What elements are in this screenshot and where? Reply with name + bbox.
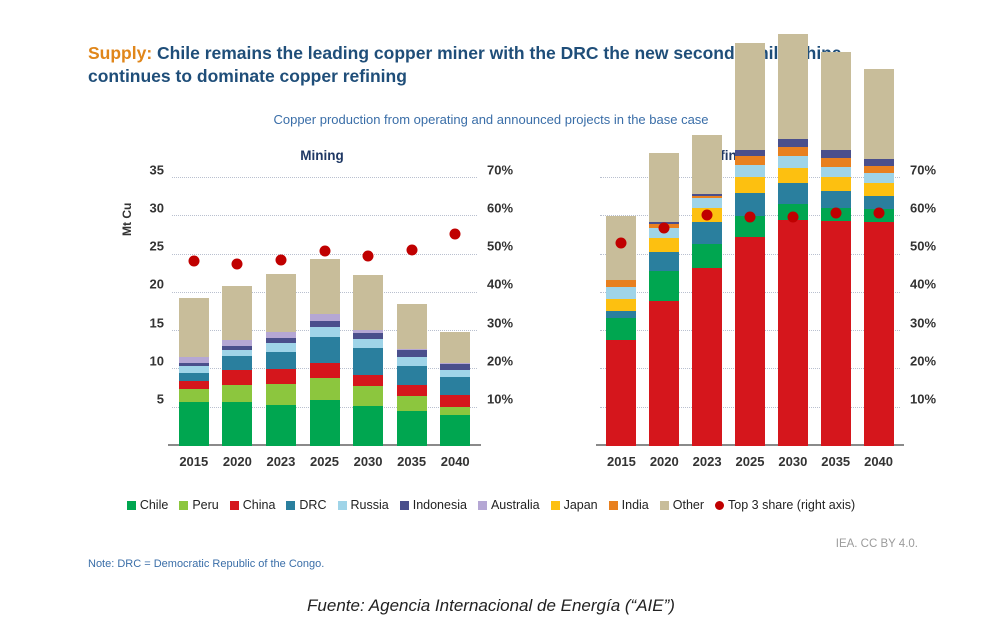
bar-refining-2035[interactable] [821, 52, 851, 446]
bar-segment-russia [864, 173, 894, 183]
bar-segment-other [310, 259, 340, 314]
bar-refining-2023[interactable] [692, 135, 722, 446]
bar-segment-drc [353, 348, 383, 375]
bar-segment-peru [440, 407, 470, 415]
bar-segment-indonesia [179, 363, 209, 366]
bar-segment-china [821, 221, 851, 446]
x-axis-tick-2023: 2023 [693, 454, 722, 469]
bar-refining-2015[interactable] [606, 216, 636, 446]
bar-segment-australia [353, 330, 383, 333]
legend-label: Top 3 share (right axis) [728, 498, 855, 512]
bar-segment-other [353, 275, 383, 330]
y-axis-tick-35: 35 [150, 162, 164, 177]
bar-segment-australia [440, 363, 470, 364]
bar-segment-chile [310, 400, 340, 446]
top3-share-dot-2040 [873, 208, 884, 219]
bar-segment-chile [353, 406, 383, 446]
x-axis-tick-2035: 2035 [397, 454, 426, 469]
x-axis-tick-2020: 2020 [223, 454, 252, 469]
top3-share-dot-2023 [275, 254, 286, 265]
bar-segment-india [864, 166, 894, 174]
legend-item-indonesia[interactable]: Indonesia [400, 498, 467, 512]
x-axis-tick-2030: 2030 [354, 454, 383, 469]
bar-segment-drc-blue [606, 311, 636, 318]
x-axis-tick-2015: 2015 [179, 454, 208, 469]
bar-segment-drc [692, 244, 722, 268]
y2-axis-tick-10%: 10% [487, 392, 513, 407]
legend-swatch-icon [551, 501, 560, 510]
bar-segment-other [222, 286, 252, 340]
bar-segment-russia [266, 343, 296, 351]
grid-line [172, 215, 477, 216]
bar-segment-drc [397, 366, 427, 385]
grid-line [172, 177, 477, 178]
bar-segment-australia [222, 340, 252, 346]
legend-label: Japan [564, 498, 598, 512]
bar-segment-australia [266, 332, 296, 338]
y-axis-tick-30: 30 [150, 200, 164, 215]
top3-share-dot-2015 [616, 238, 627, 249]
bar-segment-russia [821, 167, 851, 178]
bar-segment-peru [179, 389, 209, 402]
bar-segment-drc-blue [649, 252, 679, 270]
legend-label: Other [673, 498, 704, 512]
bar-segment-japan [649, 238, 679, 253]
bar-segment-other [179, 298, 209, 357]
bar-segment-other [266, 274, 296, 332]
y2-axis-tick-30%: 30% [487, 315, 513, 330]
bar-segment-other [692, 135, 722, 194]
y2-axis-tick-50%: 50% [910, 239, 936, 254]
bar-segment-indonesia [692, 194, 722, 196]
chart-note: Note: DRC = Democratic Republic of the C… [88, 558, 324, 570]
bar-segment-japan [821, 177, 851, 191]
bar-segment-india [606, 280, 636, 287]
legend-item-drc[interactable]: DRC [286, 498, 326, 512]
iea-credit: IEA. CC BY 4.0. [836, 538, 918, 550]
bar-segment-russia [440, 370, 470, 377]
bar-segment-china [310, 363, 340, 378]
bar-segment-russia [353, 339, 383, 348]
bar-segment-russia [778, 156, 808, 168]
bar-segment-drc [606, 318, 636, 339]
y2-axis-tick-60%: 60% [910, 200, 936, 215]
bar-segment-indonesia [397, 350, 427, 357]
bar-segment-other [649, 153, 679, 222]
bar-segment-china [692, 268, 722, 446]
bar-refining-2030[interactable] [778, 34, 808, 446]
bar-segment-chile [266, 405, 296, 446]
y2-axis-tick-20%: 20% [487, 353, 513, 368]
bar-refining-2040[interactable] [864, 69, 894, 446]
bar-segment-india [778, 147, 808, 156]
x-axis-tick-2015: 2015 [607, 454, 636, 469]
top3-share-dot-2025 [745, 212, 756, 223]
legend-label: Indonesia [413, 498, 467, 512]
legend-item-australia[interactable]: Australia [478, 498, 540, 512]
bar-segment-peru [397, 396, 427, 411]
top3-share-dot-2015 [188, 255, 199, 266]
source-caption: Fuente: Agencia Internacional de Energía… [0, 596, 982, 616]
legend-item-india[interactable]: India [609, 498, 649, 512]
legend-swatch-icon [478, 501, 487, 510]
bar-segment-indonesia [353, 333, 383, 339]
bar-segment-china [778, 220, 808, 446]
bar-segment-china [864, 222, 894, 446]
legend-label: Peru [192, 498, 218, 512]
bar-segment-chile [440, 415, 470, 446]
legend-swatch-icon [338, 501, 347, 510]
y-axis-tick-15: 15 [150, 315, 164, 330]
x-axis-tick-2025: 2025 [736, 454, 765, 469]
y2-axis-tick-40%: 40% [910, 277, 936, 292]
bar-segment-other [821, 52, 851, 150]
bar-segment-china [266, 369, 296, 384]
legend-swatch-icon [286, 501, 295, 510]
legend-swatch-icon [400, 501, 409, 510]
bar-segment-other [735, 43, 765, 149]
legend-swatch-icon [609, 501, 618, 510]
legend-swatch-icon [127, 501, 136, 510]
bar-segment-drc [649, 271, 679, 302]
bar-segment-australia [310, 314, 340, 321]
y-axis-tick-20: 20 [150, 277, 164, 292]
bar-segment-russia [692, 198, 722, 208]
x-axis-tick-2040: 2040 [864, 454, 893, 469]
bar-segment-drc-blue [821, 191, 851, 208]
y2-axis-tick-10%: 10% [910, 392, 936, 407]
y-axis-label-mining: Mt Cu [120, 203, 134, 236]
bar-segment-indonesia [778, 139, 808, 147]
y2-axis-tick-70%: 70% [487, 162, 513, 177]
bar-segment-russia [310, 327, 340, 337]
bar-segment-indonesia [440, 364, 470, 370]
bar-mining-2025[interactable] [310, 259, 340, 446]
bar-segment-china [353, 375, 383, 386]
x-axis-tick-2035: 2035 [821, 454, 850, 469]
x-axis-tick-2030: 2030 [778, 454, 807, 469]
panel-title-mining: Mining [112, 148, 532, 163]
bar-segment-other [778, 34, 808, 139]
bar-segment-indonesia [735, 150, 765, 156]
bar-segment-other [397, 304, 427, 349]
bar-segment-peru [353, 386, 383, 406]
chart-legend: ChilePeruChinaDRCRussiaIndonesiaAustrali… [0, 498, 982, 512]
headline-text: Chile remains the leading copper miner w… [88, 43, 842, 86]
bar-segment-japan [735, 177, 765, 192]
y2-axis-tick-40%: 40% [487, 277, 513, 292]
x-axis-tick-2025: 2025 [310, 454, 339, 469]
legend-item-peru[interactable]: Peru [179, 498, 218, 512]
bar-segment-china [397, 385, 427, 396]
bar-segment-chile [179, 402, 209, 446]
legend-label: Russia [351, 498, 389, 512]
bar-segment-indonesia [821, 150, 851, 158]
legend-label: Australia [491, 498, 540, 512]
bar-segment-drc [440, 377, 470, 395]
bar-segment-russia [397, 357, 427, 365]
plot-area-mining: Mt Cu 510%1020%1530%2040%2550%3060%3570%… [172, 178, 477, 446]
legend-item-china[interactable]: China [230, 498, 276, 512]
legend-swatch-icon [230, 501, 239, 510]
bar-refining-2020[interactable] [649, 153, 679, 446]
bar-mining-2020[interactable] [222, 286, 252, 446]
bar-segment-australia [397, 349, 427, 351]
bar-segment-other [440, 332, 470, 363]
bar-segment-drc-blue [692, 222, 722, 243]
legend-item-other[interactable]: Other [660, 498, 704, 512]
top3-share-dot-2035 [830, 207, 841, 218]
legend-label: India [622, 498, 649, 512]
bar-segment-drc [222, 356, 252, 370]
bar-segment-china [606, 340, 636, 446]
bar-mining-2030[interactable] [353, 274, 383, 446]
bar-segment-chile [222, 402, 252, 446]
bar-segment-peru [266, 384, 296, 405]
bar-segment-china [649, 301, 679, 446]
bar-segment-peru [222, 385, 252, 402]
bar-segment-india [692, 196, 722, 198]
bar-segment-china [735, 237, 765, 446]
bar-segment-japan [778, 168, 808, 183]
legend-swatch-icon [660, 501, 669, 510]
bar-segment-other [864, 69, 894, 159]
bar-mining-2023[interactable] [266, 274, 296, 446]
bar-segment-russia [735, 165, 765, 177]
y-axis-tick-25: 25 [150, 239, 164, 254]
bar-segment-indonesia [222, 346, 252, 350]
bar-segment-peru [310, 378, 340, 400]
bar-segment-drc [179, 373, 209, 381]
bar-mining-2040[interactable] [440, 332, 470, 446]
y2-axis-tick-50%: 50% [487, 239, 513, 254]
legend-swatch-icon [715, 501, 724, 510]
top3-share-dot-2025 [319, 246, 330, 257]
bar-refining-2025[interactable] [735, 43, 765, 446]
bar-segment-drc-blue [864, 196, 894, 209]
top3-share-dot-2020 [232, 259, 243, 270]
bar-segment-drc [310, 337, 340, 362]
x-axis-tick-2040: 2040 [441, 454, 470, 469]
top3-share-dot-2040 [450, 228, 461, 239]
y2-axis-tick-60%: 60% [487, 200, 513, 215]
bar-segment-japan [864, 183, 894, 195]
bar-segment-china [222, 370, 252, 385]
bar-mining-2015[interactable] [179, 298, 209, 446]
y2-axis-tick-20%: 20% [910, 353, 936, 368]
bar-segment-china [440, 395, 470, 407]
legend-label: Chile [140, 498, 169, 512]
bar-segment-china [179, 381, 209, 389]
top3-share-dot-2030 [787, 211, 798, 222]
bar-segment-japan [606, 299, 636, 311]
y2-axis-tick-30%: 30% [910, 315, 936, 330]
bar-segment-drc [266, 352, 296, 370]
bar-segment-indonesia [864, 159, 894, 166]
y-axis-tick-5: 5 [157, 392, 164, 407]
legend-label: DRC [299, 498, 326, 512]
bar-segment-indonesia [266, 338, 296, 343]
bar-segment-india [821, 158, 851, 166]
x-axis-tick-2023: 2023 [266, 454, 295, 469]
headline-supply-label: Supply: [88, 43, 152, 63]
bar-segment-russia [179, 366, 209, 372]
bar-segment-india [735, 156, 765, 165]
top3-share-dot-2023 [702, 209, 713, 220]
legend-swatch-icon [179, 501, 188, 510]
legend-item-russia[interactable]: Russia [338, 498, 389, 512]
top3-share-dot-2020 [659, 223, 670, 234]
x-axis-tick-2020: 2020 [650, 454, 679, 469]
y2-axis-tick-70%: 70% [910, 162, 936, 177]
bar-segment-drc-blue [778, 183, 808, 204]
bar-segment-russia [606, 287, 636, 299]
bar-segment-chile [397, 411, 427, 446]
bar-segment-indonesia [310, 321, 340, 327]
y-axis-tick-10: 10 [150, 353, 164, 368]
top3-share-dot-2035 [406, 244, 417, 255]
bar-segment-australia [179, 357, 209, 363]
bar-mining-2035[interactable] [397, 304, 427, 446]
top3-share-dot-2030 [363, 250, 374, 261]
bar-segment-russia [222, 350, 252, 356]
legend-item-chile[interactable]: Chile [127, 498, 169, 512]
legend-item-japan[interactable]: Japan [551, 498, 598, 512]
legend-item-top-3-share-right-axis[interactable]: Top 3 share (right axis) [715, 498, 855, 512]
plot-area-refining: 10%20%30%40%50%60%70%2015202020232025203… [600, 178, 900, 446]
legend-label: China [243, 498, 276, 512]
